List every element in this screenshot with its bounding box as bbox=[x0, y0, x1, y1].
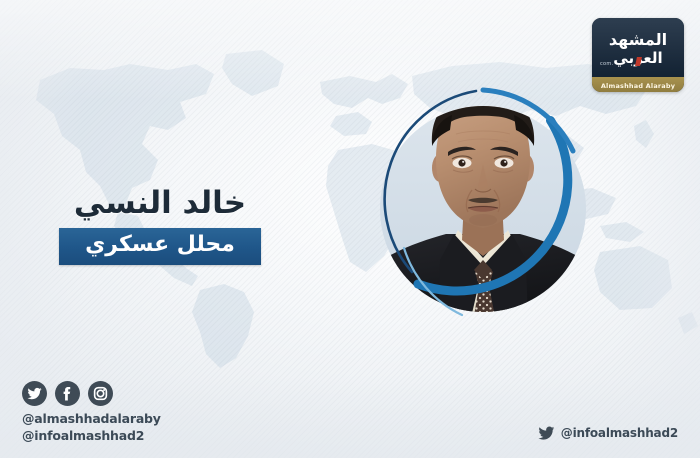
logo-main-panel: المشهد العربي com. bbox=[592, 18, 684, 77]
guest-portrait bbox=[358, 72, 608, 330]
social-icon-row bbox=[22, 381, 272, 406]
logo-footer-strip: Almashhad Alaraby bbox=[592, 77, 684, 92]
logo-arabic-line-1: المشهد bbox=[609, 32, 667, 48]
guest-role-badge: محلل عسكري bbox=[59, 228, 261, 265]
logo-latin-name: Almashhad Alaraby bbox=[601, 82, 675, 90]
twitter-icon bbox=[538, 425, 555, 442]
guest-name: خالد النسي bbox=[0, 186, 320, 222]
social-block-right[interactable]: @infoalmashhad2 bbox=[538, 425, 678, 442]
social-handle-right[interactable]: @infoalmashhad2 bbox=[561, 425, 678, 441]
social-handle-secondary[interactable]: @infoalmashhad2 bbox=[22, 428, 272, 445]
guest-identity-block: خالد النسي محلل عسكري bbox=[0, 186, 320, 265]
news-guest-lower-third-card: خالد النسي محلل عسكري bbox=[0, 0, 700, 458]
social-handle-primary[interactable]: @almashhadalaraby bbox=[22, 411, 272, 428]
instagram-icon[interactable] bbox=[88, 381, 113, 406]
facebook-icon[interactable] bbox=[55, 381, 80, 406]
social-block-left: @almashhadalaraby @infoalmashhad2 bbox=[22, 381, 272, 445]
twitter-icon[interactable] bbox=[22, 381, 47, 406]
channel-logo[interactable]: المشهد العربي com. Almashhad Alaraby bbox=[592, 18, 684, 92]
portrait-ring bbox=[358, 72, 608, 330]
logo-domain-text: com. bbox=[600, 61, 613, 67]
